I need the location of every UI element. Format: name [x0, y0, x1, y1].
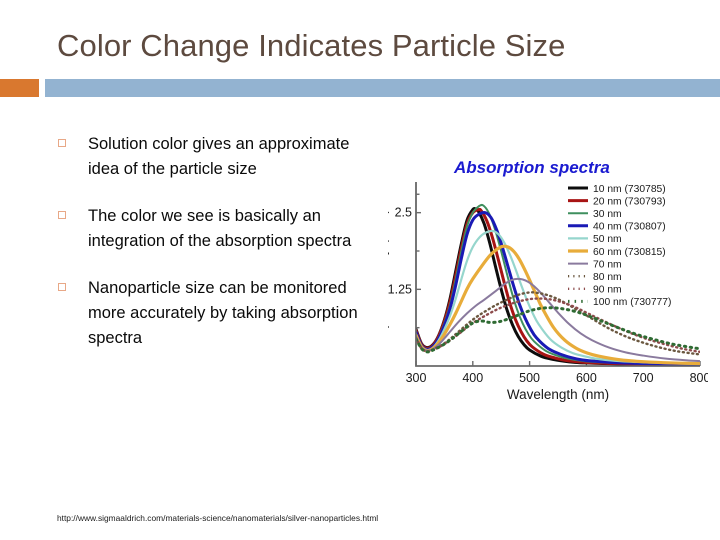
- bullet-text: The color we see is basically an integra…: [88, 207, 351, 250]
- svg-text:300: 300: [406, 371, 427, 385]
- svg-text:700: 700: [633, 371, 654, 385]
- list-item: Nanoparticle size can be monitored more …: [58, 276, 368, 351]
- svg-text:70 nm: 70 nm: [593, 259, 622, 270]
- accent-bar-orange: [0, 79, 39, 97]
- accent-bar-blue: [45, 79, 720, 97]
- bullet-square-icon: [58, 211, 66, 219]
- page-title: Color Change Indicates Particle Size: [57, 28, 697, 64]
- svg-text:600: 600: [576, 371, 597, 385]
- absorption-spectra-figure: Absorption spectra 3004005006007008001.2…: [388, 152, 708, 414]
- bullet-text: Nanoparticle size can be monitored more …: [88, 279, 358, 347]
- figure-heading: Absorption spectra: [454, 158, 610, 178]
- svg-text:30 nm: 30 nm: [593, 209, 622, 220]
- svg-text:500: 500: [519, 371, 540, 385]
- svg-text:800: 800: [690, 371, 708, 385]
- svg-text:90 nm: 90 nm: [593, 285, 622, 296]
- bullet-list: Solution color gives an approximate idea…: [58, 132, 368, 373]
- bullet-square-icon: [58, 283, 66, 291]
- bullet-text: Solution color gives an approximate idea…: [88, 135, 349, 178]
- svg-text:400: 400: [462, 371, 483, 385]
- svg-text:Wavelength (nm): Wavelength (nm): [507, 387, 609, 402]
- svg-text:10 nm (730785): 10 nm (730785): [593, 184, 666, 195]
- spectra-chart: 3004005006007008001.252.5Wavelength (nm)…: [388, 176, 708, 412]
- svg-text:2.5: 2.5: [395, 206, 412, 220]
- list-item: The color we see is basically an integra…: [58, 204, 368, 254]
- bullet-square-icon: [58, 139, 66, 147]
- svg-text:1.25: 1.25: [388, 282, 412, 296]
- svg-text:100 nm (730777): 100 nm (730777): [593, 297, 671, 308]
- svg-text:50 nm: 50 nm: [593, 234, 622, 245]
- source-url: http://www.sigmaaldrich.com/materials-sc…: [57, 513, 378, 523]
- svg-text:20 nm (730793): 20 nm (730793): [593, 196, 666, 207]
- svg-text:80 nm: 80 nm: [593, 272, 622, 283]
- list-item: Solution color gives an approximate idea…: [58, 132, 368, 182]
- svg-text:60 nm (730815): 60 nm (730815): [593, 247, 666, 258]
- svg-text:Optical Density (cm-1): Optical Density (cm-1): [388, 209, 389, 339]
- svg-text:40 nm (730807): 40 nm (730807): [593, 222, 666, 233]
- slide: Color Change Indicates Particle Size Sol…: [0, 0, 720, 540]
